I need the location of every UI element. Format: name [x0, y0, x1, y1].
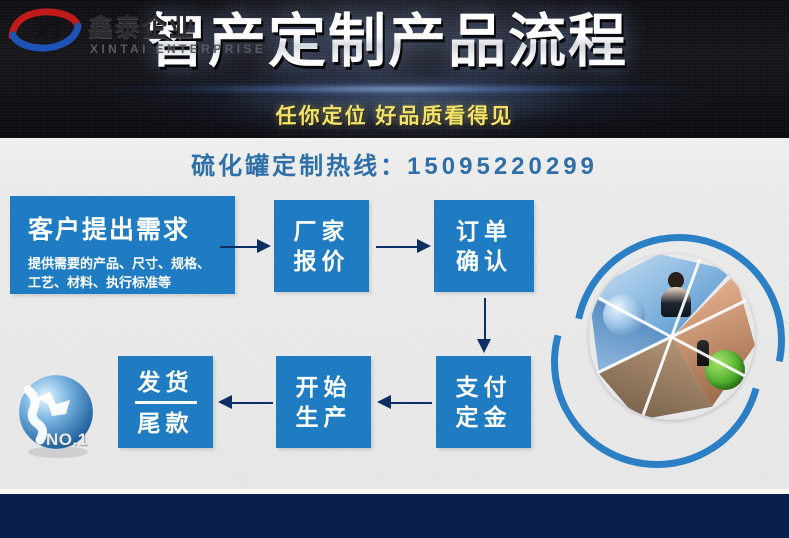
flow-step-produce-line2: 生产	[296, 402, 352, 432]
flow-step-request-desc-line1: 提供需要的产品、尺寸、规格、	[28, 254, 210, 273]
company-logo: XT 鑫泰企业 XINTAI ENTERPRISE	[6, 4, 181, 66]
flow-step-deposit-line1: 支付	[456, 372, 512, 402]
flow-step-ship-divider	[135, 401, 197, 404]
flow-step-quote-line1: 厂家	[294, 216, 350, 246]
flow-step-quote: 厂家 报价	[274, 200, 369, 292]
hotline-label: 硫化罐定制热线：	[191, 153, 407, 180]
arrow-request-to-quote	[220, 238, 270, 254]
arrow-deposit-to-produce	[378, 394, 432, 410]
hotline-text: 硫化罐定制热线：15095220299	[0, 146, 789, 181]
flow-step-deposit-line2: 定金	[456, 402, 512, 432]
collage-globe-blob	[603, 294, 645, 336]
hotline-number: 15095220299	[407, 153, 598, 180]
footer-bar	[0, 494, 789, 538]
flow-step-produce: 开始 生产	[276, 356, 371, 448]
flow-step-confirm-line1: 订单	[456, 216, 512, 246]
arrow-quote-to-confirm	[376, 238, 430, 254]
flow-step-request-desc: 提供需要的产品、尺寸、规格、 工艺、材料、执行标准等	[28, 254, 210, 292]
logo-company-cn: 鑫泰企业	[88, 8, 196, 44]
globe-no1-label: NO.1	[46, 430, 88, 450]
arrow-confirm-to-deposit	[476, 298, 492, 352]
flow-step-confirm: 订单 确认	[434, 200, 534, 292]
flow-step-ship-line1: 发货	[138, 367, 194, 397]
flow-step-ship-line2: 尾款	[138, 408, 194, 438]
arrow-produce-to-ship	[219, 394, 273, 410]
flow-step-quote-line2: 报价	[294, 246, 350, 276]
flow-step-produce-line1: 开始	[296, 372, 352, 402]
header-light-flare	[85, 84, 705, 94]
page-subtitle: 任你定位 好品质看得见	[0, 100, 789, 130]
flow-step-confirm-line2: 确认	[456, 246, 512, 276]
header-banner: XT 鑫泰企业 XINTAI ENTERPRISE 智产定制产品流程 任你定位 …	[0, 0, 789, 138]
collage-photo-wheel	[589, 254, 755, 420]
flow-step-request: 客户提出需求 提供需要的产品、尺寸、规格、 工艺、材料、执行标准等	[10, 196, 235, 294]
flow-step-deposit: 支付 定金	[436, 356, 531, 448]
xt-logo-icon: XT	[6, 6, 86, 54]
globe-no1-badge: NO.1	[8, 368, 104, 464]
svg-text:XT: XT	[33, 18, 66, 44]
flow-step-ship: 发货 尾款	[118, 356, 213, 448]
flow-step-request-title: 客户提出需求	[28, 210, 190, 246]
logo-company-en: XINTAI ENTERPRISE	[90, 42, 266, 56]
flow-step-request-desc-line2: 工艺、材料、执行标准等	[28, 273, 210, 292]
business-collage-graphic	[545, 232, 789, 460]
promo-banner-page: XT 鑫泰企业 XINTAI ENTERPRISE 智产定制产品流程 任你定位 …	[0, 0, 789, 538]
